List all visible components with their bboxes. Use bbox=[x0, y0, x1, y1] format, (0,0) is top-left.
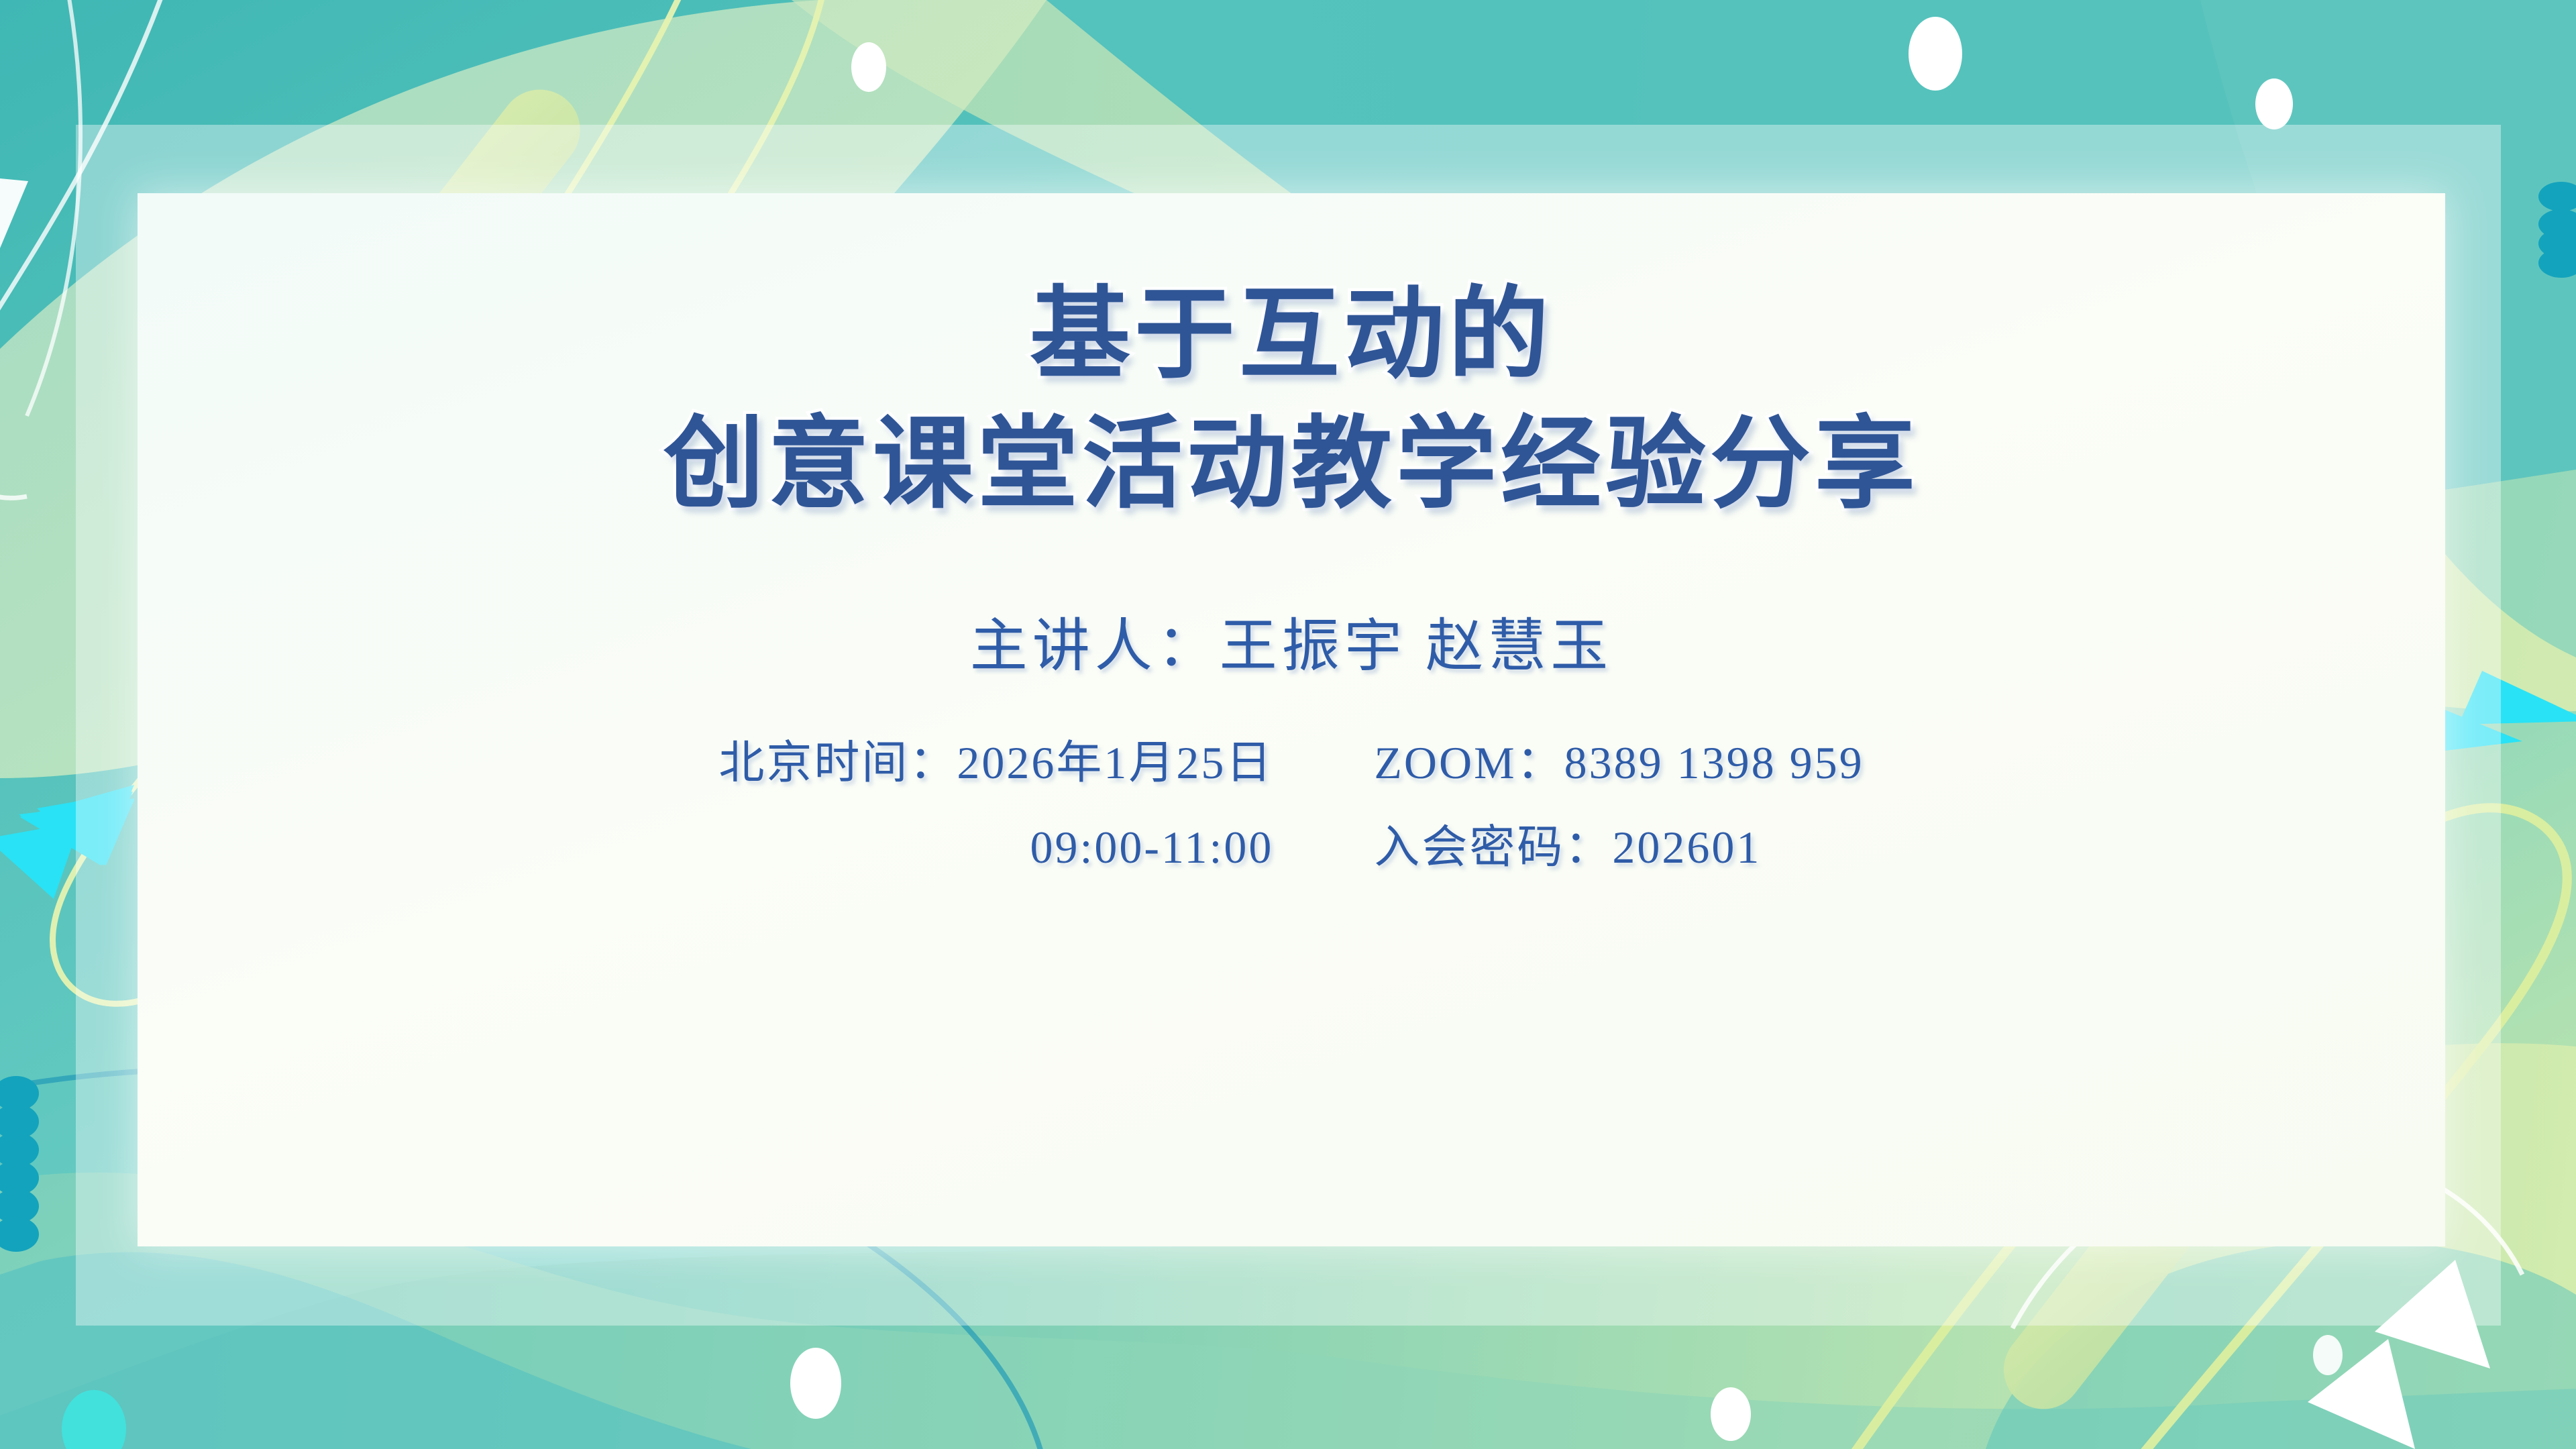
event-details: 北京时间：2026年1月25日 09:00-11:00 ZOOM：8389 13… bbox=[138, 740, 2445, 870]
detail-time: 09:00-11:00 bbox=[1030, 824, 1273, 870]
title-line-1: 基于互动的 bbox=[663, 274, 1919, 396]
detail-date: 北京时间：2026年1月25日 bbox=[718, 740, 1273, 786]
details-column-left: 北京时间：2026年1月25日 09:00-11:00 bbox=[718, 740, 1273, 870]
right-dots bbox=[2538, 182, 2576, 278]
title-line-2: 创意课堂活动教学经验分享 bbox=[663, 403, 1919, 526]
detail-zoom-id: ZOOM：8389 1398 959 bbox=[1374, 740, 1864, 786]
white-circle-c bbox=[2255, 78, 2293, 129]
white-circle-b bbox=[1909, 17, 1962, 91]
page-title: 基于互动的 创意课堂活动教学经验分享 bbox=[663, 274, 1919, 526]
speaker-line: 主讲人：王振宇 赵慧玉 bbox=[970, 598, 1613, 682]
detail-passcode: 入会密码：202601 bbox=[1374, 824, 1761, 870]
poster-content: 基于互动的 创意课堂活动教学经验分享 主讲人：王振宇 赵慧玉 北京时间：2026… bbox=[138, 193, 2445, 1246]
white-circle-f bbox=[2313, 1335, 2343, 1375]
webinar-poster: 基于互动的 创意课堂活动教学经验分享 主讲人：王振宇 赵慧玉 北京时间：2026… bbox=[0, 0, 2576, 1449]
white-circle-d bbox=[790, 1348, 841, 1419]
white-circle-e bbox=[1711, 1387, 1751, 1441]
details-column-right: ZOOM：8389 1398 959 入会密码：202601 bbox=[1374, 740, 1864, 870]
white-circle-a bbox=[851, 42, 886, 92]
